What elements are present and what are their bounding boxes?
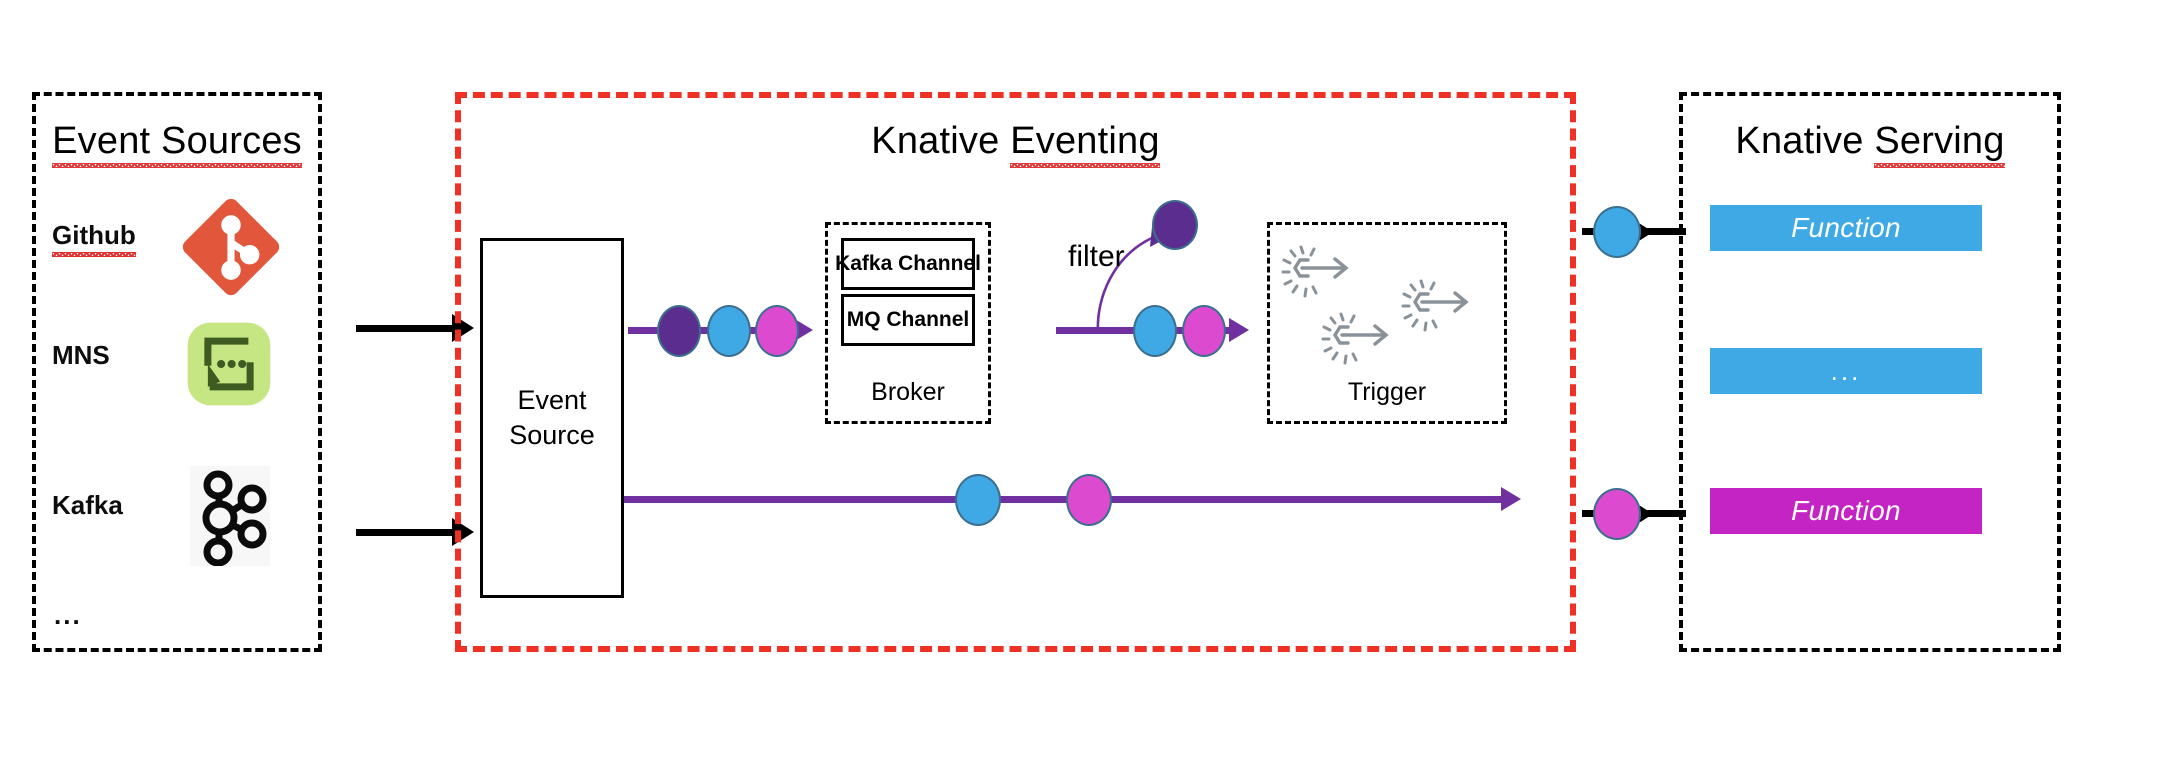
event-bead-magenta-3	[1066, 474, 1112, 526]
flow-direct-source-to-serving-line	[624, 496, 1504, 503]
kafka-channel-label: Kafka Channel	[835, 252, 981, 276]
kafka-logo-icon	[190, 466, 270, 566]
event-bead-purple-1	[657, 305, 701, 357]
event-trigger-icon-1	[1278, 238, 1362, 310]
panel-event-sources	[32, 92, 322, 652]
dispatch-bead-blue	[1593, 206, 1641, 258]
diagram-canvas: Event Sources Github MNS	[0, 0, 2176, 758]
source-label-mns: MNS	[52, 340, 110, 371]
serving-function-2[interactable]: ...	[1710, 348, 1982, 394]
event-trigger-icon-3	[1398, 272, 1482, 344]
serving-function-3-label: Function	[1791, 495, 1901, 527]
event-source-box: Event Source	[480, 238, 624, 598]
flow-broker-to-trigger-head	[1229, 318, 1249, 342]
arrow-sources-to-eventing-top-line	[356, 325, 456, 332]
mq-channel-label: MQ Channel	[847, 308, 970, 332]
knative-serving-title-prefix: Knative	[1735, 120, 1874, 162]
event-bead-blue-3	[955, 474, 1001, 526]
serving-function-3[interactable]: Function	[1710, 488, 1982, 534]
serving-function-2-label: ...	[1831, 356, 1862, 387]
flow-direct-source-to-serving-head	[1501, 487, 1521, 511]
event-bead-purple-filtered	[1152, 200, 1198, 250]
source-more-ellipsis: ...	[54, 600, 82, 631]
event-bead-magenta-1	[755, 305, 799, 357]
event-trigger-icon-2	[1318, 305, 1402, 377]
filter-label: filter	[1068, 240, 1125, 274]
event-sources-title-text: Event Sources	[52, 120, 302, 163]
broker-caption: Broker	[825, 378, 991, 407]
serving-function-1-label: Function	[1791, 212, 1901, 244]
source-label-kafka: Kafka	[52, 490, 123, 521]
knative-serving-title-suffix: Serving	[1874, 120, 2004, 163]
dispatch-bead-magenta	[1593, 488, 1641, 540]
source-item-mns: MNS	[52, 340, 110, 371]
event-source-line2: Source	[509, 418, 595, 453]
panel-knative-serving-title: Knative Serving	[1679, 120, 2061, 163]
source-label-github: Github	[52, 220, 136, 251]
knative-eventing-title-prefix: Knative	[871, 120, 1010, 162]
arrow-sources-to-eventing-bottom-line	[356, 529, 456, 536]
panel-knative-eventing-title: Knative Eventing	[455, 120, 1576, 163]
event-source-line1: Event	[517, 383, 586, 418]
trigger-caption: Trigger	[1267, 378, 1507, 407]
mq-channel-box[interactable]: MQ Channel	[841, 294, 975, 346]
git-logo-icon	[176, 192, 286, 302]
kafka-channel-box[interactable]: Kafka Channel	[841, 238, 975, 290]
event-bead-blue-1	[707, 305, 751, 357]
panel-event-sources-title: Event Sources	[32, 120, 322, 163]
source-item-kafka: Kafka	[52, 490, 123, 521]
source-item-github: Github	[52, 220, 136, 251]
mns-message-icon	[185, 320, 273, 408]
knative-eventing-title-suffix: Eventing	[1010, 120, 1159, 163]
serving-function-1[interactable]: Function	[1710, 205, 1982, 251]
